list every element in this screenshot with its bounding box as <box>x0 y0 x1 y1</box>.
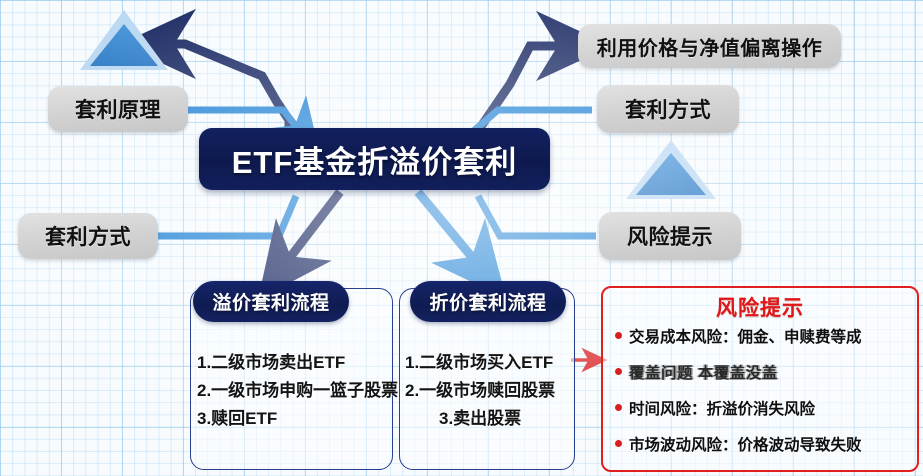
bullet-icon <box>615 404 622 411</box>
flow-header-premium-text: 溢价套利流程 <box>212 288 329 315</box>
list-item: 2.一级市场申购一篮子股票 <box>197 377 398 405</box>
list-item: 3.赎回ETF <box>197 405 398 433</box>
bullet-icon <box>615 440 622 447</box>
label-price-nav-deviation[interactable]: 利用价格与净值偏离操作 <box>578 24 841 68</box>
risk-list-item: 覆盖问题 本覆盖没盖 <box>615 361 911 383</box>
label-arbitrage-method-right[interactable]: 套利方式 <box>597 85 739 133</box>
label-arbitrage-method-right-text: 套利方式 <box>625 94 711 124</box>
list-item: 1.二级市场买入ETF <box>405 349 555 377</box>
list-item: 1.二级市场卖出ETF <box>197 349 398 377</box>
risk-item-text: 覆盖问题 本覆盖没盖 <box>629 361 778 383</box>
label-arbitrage-method-left[interactable]: 套利方式 <box>18 213 158 259</box>
triangle-up-icon-left <box>80 10 168 70</box>
line-method-left-to-center <box>158 196 296 236</box>
flow-header-premium-arbitrage[interactable]: 溢价套利流程 <box>193 281 349 322</box>
risk-panel-title: 风险提示 <box>603 292 917 322</box>
risk-list-item: 交易成本风险：佣金、申赎费等成 <box>615 325 911 347</box>
label-price-nav-deviation-text: 利用价格与净值偏离操作 <box>597 32 823 61</box>
label-risk-warning-text: 风险提示 <box>627 221 713 251</box>
list-item: 3.卖出股票 <box>405 405 555 433</box>
label-arbitrage-method-left-text: 套利方式 <box>45 221 131 251</box>
flow-header-discount-arbitrage[interactable]: 折价套利流程 <box>410 281 566 322</box>
flow-header-discount-text: 折价套利流程 <box>429 288 546 315</box>
risk-item-text: 时间风险：折溢价消失风险 <box>629 397 815 419</box>
arrow-center-to-discount-card <box>418 192 481 268</box>
label-arbitrage-principle-text: 套利原理 <box>75 94 161 124</box>
list-item: 2.一级市场赎回股票 <box>405 377 555 405</box>
triangle-up-icon-right <box>626 140 716 199</box>
bullet-icon <box>615 368 622 375</box>
center-title-box[interactable]: ETF基金折溢价套利 <box>199 128 550 190</box>
label-risk-warning[interactable]: 风险提示 <box>599 212 741 260</box>
flow-list-premium-arbitrage: 1.二级市场卖出ETF 2.一级市场申购一篮子股票 3.赎回ETF <box>197 349 398 433</box>
flow-list-discount-arbitrage: 1.二级市场买入ETF 2.一级市场赎回股票 3.卖出股票 <box>405 349 555 433</box>
bullet-icon <box>615 332 622 339</box>
page-title: ETF基金折溢价套利 <box>232 137 518 182</box>
risk-list-item: 时间风险：折溢价消失风险 <box>615 397 911 419</box>
risk-warning-panel: 风险提示 交易成本风险：佣金、申赎费等成 覆盖问题 本覆盖没盖 时间风险：折溢价… <box>601 286 919 472</box>
risk-item-text: 市场波动风险：价格波动导致失败 <box>629 433 862 455</box>
label-arbitrage-principle[interactable]: 套利原理 <box>48 86 188 132</box>
line-center-to-risk-label <box>478 196 596 236</box>
risk-list-item: 市场波动风险：价格波动导致失败 <box>615 433 911 455</box>
risk-item-text: 交易成本风险：佣金、申赎费等成 <box>629 325 862 347</box>
diagram-canvas: 套利原理 套利方式 利用价格与净值偏离操作 套利方式 风险提示 ETF基金折溢价… <box>0 0 923 476</box>
